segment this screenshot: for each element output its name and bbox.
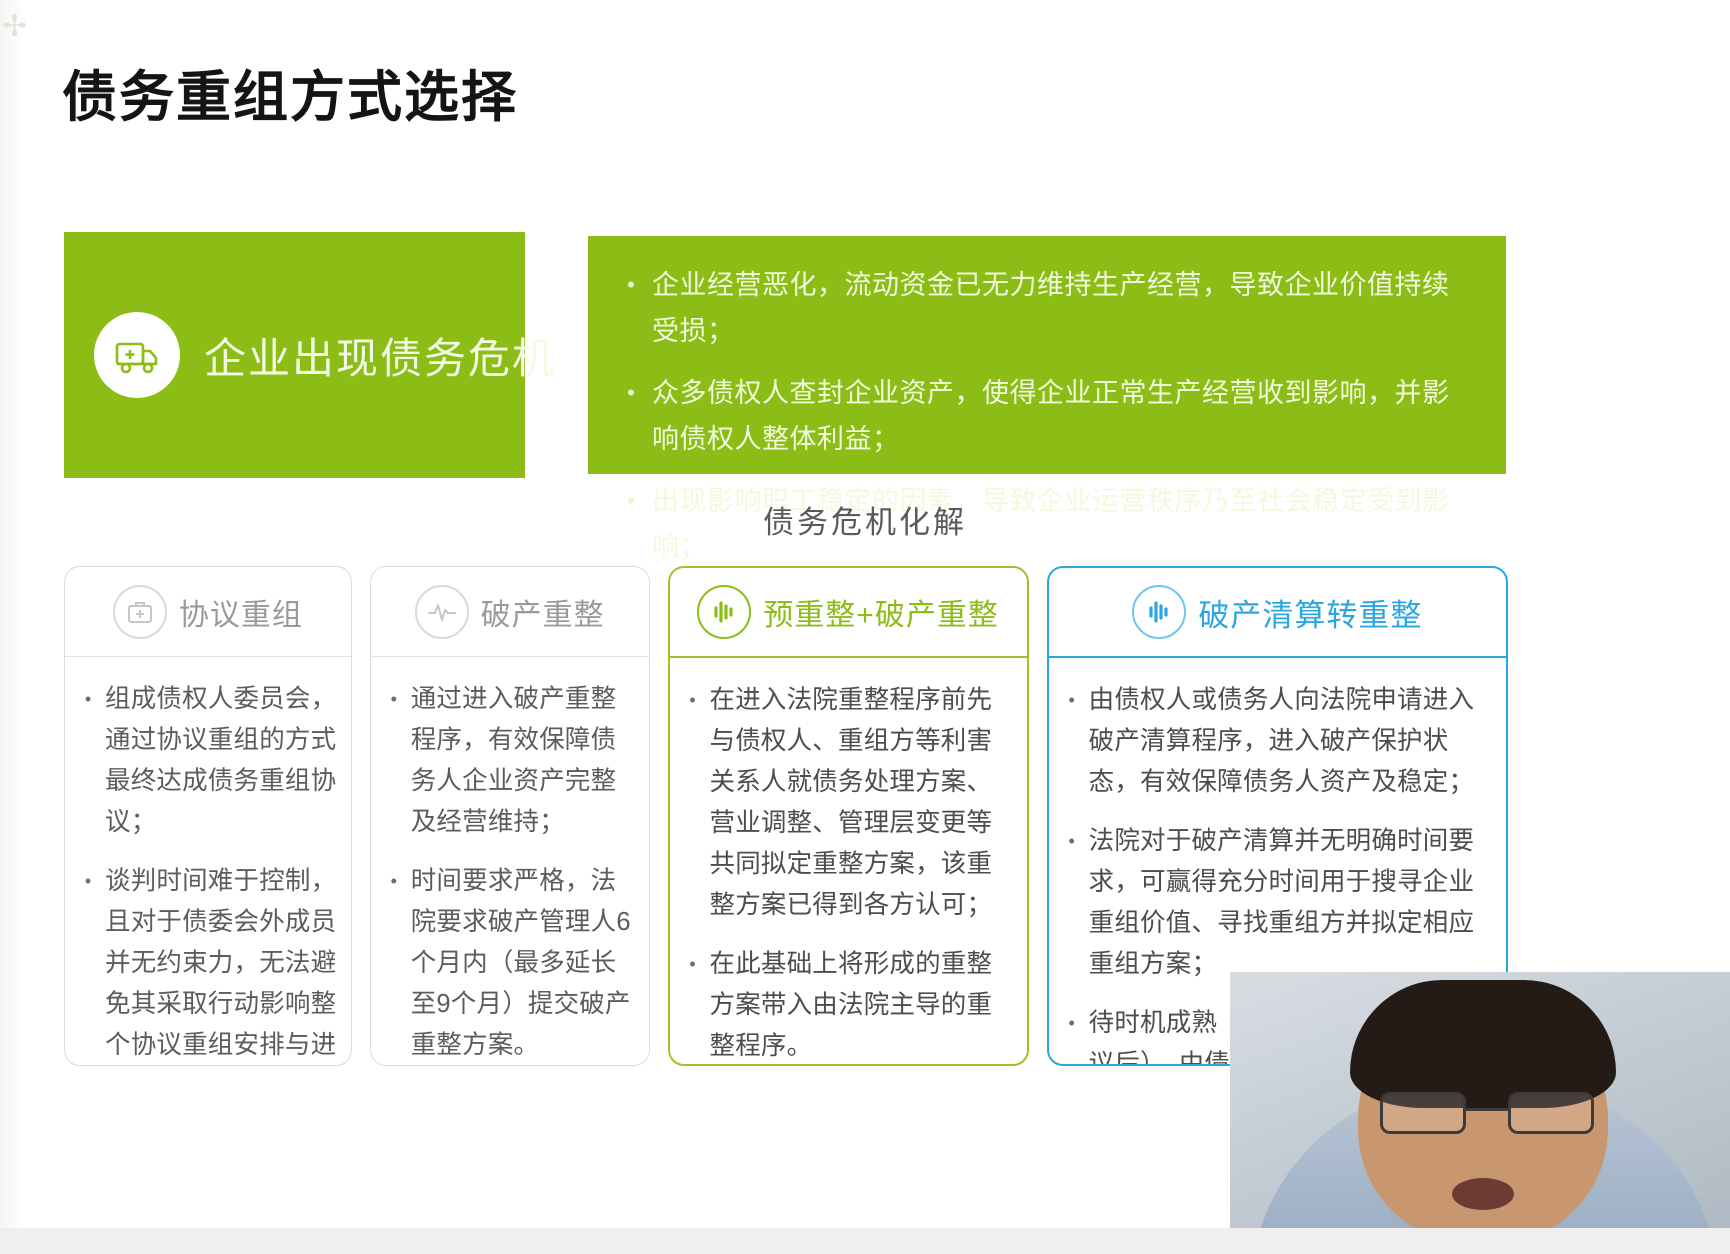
glasses-icon (1380, 1092, 1594, 1136)
card-bullet: • 谈判时间难于控制，且对于债委会外成员并无约束力，无法避免其采取行动影响整个协… (71, 861, 337, 1066)
card-bullet: • 在此基础上将形成的重整方案带入由法院主导的重整程序。 (676, 944, 1013, 1066)
screenshare-left-edge (0, 0, 26, 1254)
first-aid-kit-icon (113, 585, 167, 639)
card-body: • 组成债权人委员会，通过协议重组的方式最终达成债务重组协议； • 谈判时间难于… (65, 657, 351, 1066)
card-bullet-text: 法院对于破产清算并无明确时间要求，可赢得充分时间用于搜寻企业重组价值、寻找重组方… (1089, 821, 1492, 985)
middle-caption-text: 债务危机化解 (763, 505, 967, 540)
card-bullet: • 通过进入破产重整程序，有效保障债务人企业资产完整及经营维持； (377, 679, 635, 843)
bullet-dot-icon: • (610, 262, 652, 308)
bullet-dot-icon: • (676, 944, 710, 985)
presenter-video-overlay[interactable] (1230, 972, 1730, 1254)
bullet-dot-icon: • (71, 861, 105, 902)
card-title: 破产重整 (481, 590, 605, 634)
watermark-glyph: ✢ (2, 4, 42, 50)
bullet-dot-icon: • (71, 679, 105, 720)
bullet-dot-icon: • (610, 370, 652, 416)
bullet-dot-icon: • (676, 680, 710, 721)
ambulance-icon (94, 312, 180, 398)
heartbeat-icon (415, 585, 469, 639)
middle-caption: 债务危机化解 (0, 497, 1730, 542)
card-bullet-text: 由债权人或债务人向法院申请进入破产清算程序，进入破产保护状态，有效保障债务人资产… (1089, 680, 1492, 803)
card-bullet-text: 通过进入破产重整程序，有效保障债务人企业资产完整及经营维持； (411, 679, 635, 843)
card-title: 预重整+破产重整 (763, 590, 999, 634)
card-bullet: • 在进入法院重整程序前先与债权人、重组方等利害关系人就债务处理方案、营业调整、… (676, 680, 1013, 926)
presenter-hair (1350, 980, 1616, 1108)
bullet-dot-icon: • (377, 861, 411, 902)
page-title: 债务重组方式选择 (62, 52, 518, 132)
card-title: 协议重组 (179, 590, 303, 634)
card-bullet-text: 时间要求严格，法院要求破产管理人6个月内（最多延长至9个月）提交破产重整方案。 (411, 861, 635, 1066)
card-bullet-text: 在进入法院重整程序前先与债权人、重组方等利害关系人就债务处理方案、营业调整、管理… (710, 680, 1013, 926)
card-yuchongzheng-pochanchongzheng[interactable]: 预重整+破产重整 • 在进入法院重整程序前先与债权人、重组方等利害关系人就债务处… (668, 566, 1029, 1066)
card-body: • 通过进入破产重整程序，有效保障债务人企业资产完整及经营维持； • 时间要求严… (371, 657, 649, 1066)
crisis-banner-left: 企业出现债务危机 (64, 232, 525, 478)
card-bullet: • 组成债权人委员会，通过协议重组的方式最终达成债务重组协议； (71, 679, 337, 843)
card-header: 破产清算转重整 (1049, 568, 1506, 658)
card-xieyi-chongzu[interactable]: 协议重组 • 组成债权人委员会，通过协议重组的方式最终达成债务重组协议； • 谈… (64, 566, 352, 1066)
card-header: 协议重组 (65, 567, 351, 657)
crisis-bullet: • 众多债权人查封企业资产，使得企业正常生产经营收到影响，并影响债权人整体利益； (610, 370, 1476, 462)
card-header: 预重整+破产重整 (670, 568, 1027, 658)
card-bullet-text: 谈判时间难于控制，且对于债委会外成员并无约束力，无法避免其采取行动影响整个协议重… (105, 861, 337, 1066)
card-title: 破产清算转重整 (1198, 590, 1422, 635)
card-bullet: • 由债权人或债务人向法院申请进入破产清算程序，进入破产保护状态，有效保障债务人… (1055, 680, 1492, 803)
bullet-dot-icon: • (1055, 1003, 1089, 1044)
pulse-wave-icon (697, 585, 751, 639)
crisis-bullet: • 企业经营恶化，流动资金已无力维持生产经营，导致企业价值持续受损； (610, 262, 1476, 354)
bottom-toolbar-strip (0, 1228, 1730, 1254)
glasses-right-lens (1508, 1092, 1594, 1134)
crisis-banner-label: 企业出现债务危机 (204, 325, 556, 386)
bullet-dot-icon: • (377, 679, 411, 720)
glasses-left-lens (1380, 1092, 1466, 1134)
crisis-banner-bullets: • 企业经营恶化，流动资金已无力维持生产经营，导致企业价值持续受损； • 众多债… (588, 236, 1506, 474)
crisis-bullet-text: 企业经营恶化，流动资金已无力维持生产经营，导致企业价值持续受损； (652, 262, 1476, 354)
glasses-bridge (1466, 1108, 1508, 1111)
card-bullet: • 法院对于破产清算并无明确时间要求，可赢得充分时间用于搜寻企业重组价值、寻找重… (1055, 821, 1492, 985)
bullet-dot-icon: • (1055, 680, 1089, 721)
bullet-dot-icon: • (1055, 821, 1089, 862)
pulse-wave-icon (1132, 585, 1186, 639)
card-body: • 在进入法院重整程序前先与债权人、重组方等利害关系人就债务处理方案、营业调整、… (670, 658, 1027, 1066)
slide-canvas: ✢ 债务重组方式选择 企业出现债务危机 • 企业经营恶化，流动资金已无力维持生产… (0, 0, 1730, 1254)
card-pochan-chongzheng[interactable]: 破产重整 • 通过进入破产重整程序，有效保障债务人企业资产完整及经营维持； • … (370, 566, 650, 1066)
crisis-bullet-text: 众多债权人查封企业资产，使得企业正常生产经营收到影响，并影响债权人整体利益； (652, 370, 1476, 462)
card-bullet-text: 在此基础上将形成的重整方案带入由法院主导的重整程序。 (710, 944, 1013, 1066)
card-bullet-text: 组成债权人委员会，通过协议重组的方式最终达成债务重组协议； (105, 679, 337, 843)
card-bullet: • 时间要求严格，法院要求破产管理人6个月内（最多延长至9个月）提交破产重整方案… (377, 861, 635, 1066)
presenter-mouth (1452, 1178, 1514, 1210)
card-header: 破产重整 (371, 567, 649, 657)
